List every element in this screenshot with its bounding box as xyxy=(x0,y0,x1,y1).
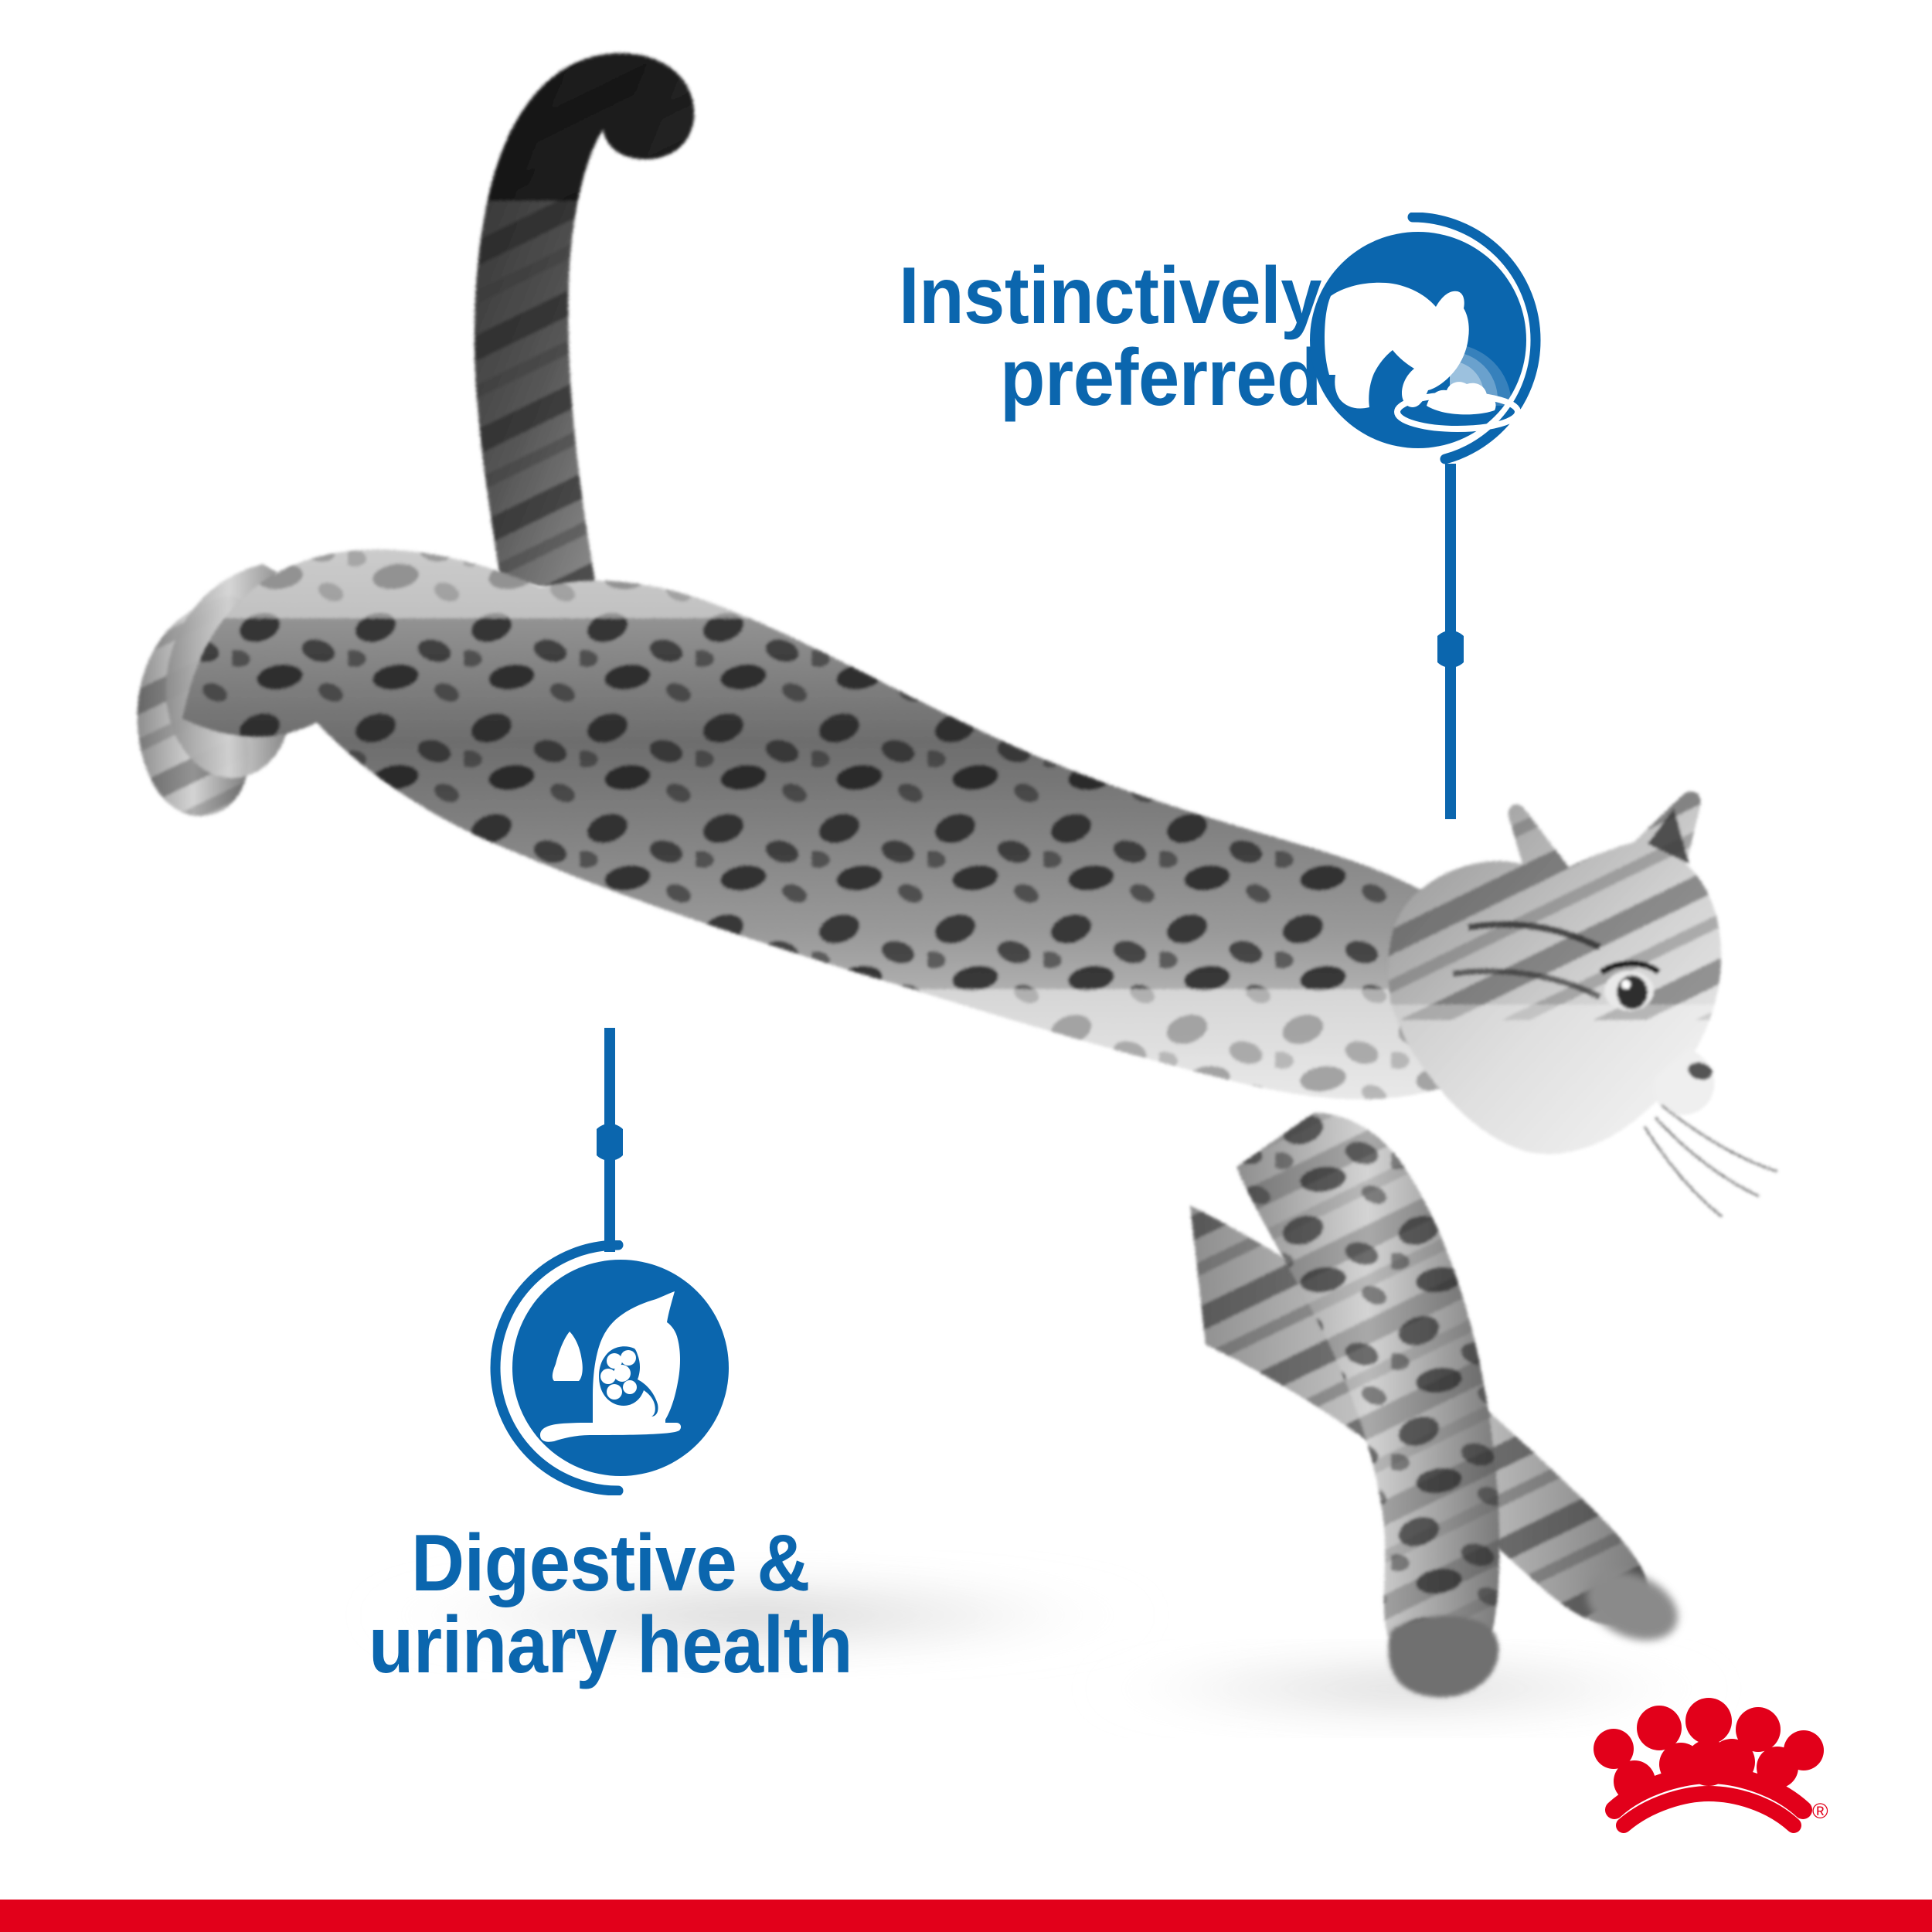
cat-stretched-leg xyxy=(1159,1190,1700,1654)
cat-body xyxy=(155,510,1546,1144)
footer-accent-bar xyxy=(0,1900,1932,1932)
cat-paw-rear xyxy=(1576,1558,1689,1654)
cat-front-leg xyxy=(1221,1105,1530,1708)
cat-whiskers xyxy=(1645,1105,1777,1216)
product-feature-panel: Instinctively preferred xyxy=(0,0,1932,1932)
cat-tail xyxy=(464,46,726,634)
registered-mark: ® xyxy=(1812,1799,1828,1823)
cat-paw-front xyxy=(1389,1616,1499,1698)
connector-line-digestive-urinary-health xyxy=(597,1028,623,1252)
connector-line-instinctively-preferred xyxy=(1437,464,1464,819)
cat-eating-from-bowl-icon xyxy=(1298,213,1553,468)
royal-canin-crown-logo: ® xyxy=(1580,1696,1835,1851)
connector-dot xyxy=(597,1124,623,1161)
cat-kidney-health-icon xyxy=(483,1240,738,1495)
feature-label-instinctively-preferred: Instinctively preferred xyxy=(731,255,1321,419)
crown-dot xyxy=(1685,1698,1732,1744)
connector-dot xyxy=(1437,631,1464,668)
cat-muzzle xyxy=(1654,1048,1714,1115)
cat-head xyxy=(1376,788,1777,1216)
cat-rear-legs xyxy=(124,564,292,835)
cat-eye xyxy=(1601,964,1658,1011)
crown-arc-lower xyxy=(1624,1794,1794,1825)
feature-label-digestive-urinary-health: Digestive & urinary health xyxy=(291,1522,930,1686)
